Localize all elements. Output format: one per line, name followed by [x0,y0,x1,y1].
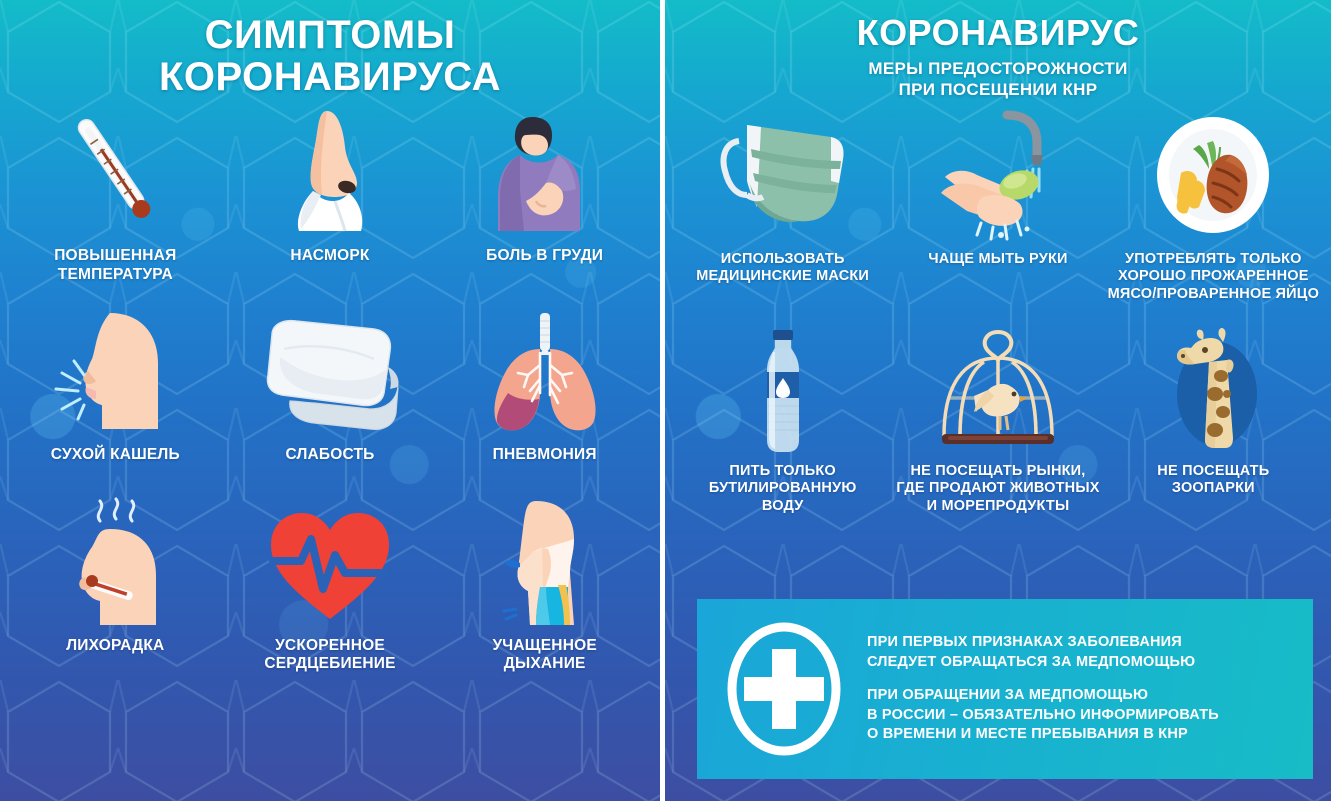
symptom-label-9: УЧАЩЕННОЕ ДЫХАНИЕ [492,637,596,675]
symptoms-panel: СИМПТОМЫ КОРОНАВИРУСА [0,0,660,801]
precautions-row-1: ИСПОЛЬЗОВАТЬ МЕДИЦИНСКИЕ МАСКИ [665,111,1331,304]
notice-text-block: ПРИ ПЕРВЫХ ПРИЗНАКАХ ЗАБОЛЕВАНИЯ СЛЕДУЕТ… [867,633,1219,745]
precaution-label-6: НЕ ПОСЕЩАТЬ ЗООПАРКИ [1157,463,1269,498]
lungs-icon [470,309,620,434]
symptoms-title-line2: КОРОНАВИРУСА [0,56,660,98]
symptom-card-pneumonia: ПНЕВМОНИЯ [437,309,652,465]
symptoms-title-line1: СИМПТОМЫ [0,14,660,56]
medical-help-notice: ПРИ ПЕРВЫХ ПРИЗНАКАХ ЗАБОЛЕВАНИЯ СЛЕДУЕТ… [697,599,1313,779]
symptom-card-chest-pain: БОЛЬ В ГРУДИ [437,105,652,285]
symptom-card-fever: ЛИХОРАДКА [8,495,223,675]
symptom-card-weakness: СЛАБОСТЬ [223,309,438,465]
precaution-label-4: ПИТЬ ТОЛЬКО БУТИЛИРОВАННУЮ ВОДУ [709,463,857,516]
medical-cross-icon [723,619,845,759]
notice-p2-line3: О ВРЕМЕНИ И МЕСТЕ ПРЕБЫВАНИЯ В КНР [867,725,1219,745]
symptom-label-7: ЛИХОРАДКА [66,637,164,656]
symptom-label-2: НАСМОРК [290,247,369,266]
precaution-label-1: ИСПОЛЬЗОВАТЬ МЕДИЦИНСКИЕ МАСКИ [696,251,869,286]
dry-cough-icon [40,309,190,434]
symptom-card-fever-temp: ПОВЫШЕННАЯ ТЕМПЕРАТУРА [8,105,223,285]
symptom-label-3: БОЛЬ В ГРУДИ [486,247,603,266]
notice-p2-line2: В РОССИИ – ОБЯЗАТЕЛЬНО ИНФОРМИРОВАТЬ [867,706,1219,726]
pillow-icon [250,309,410,434]
precaution-card-no-markets: НЕ ПОСЕЩАТЬ РЫНКИ, ГДЕ ПРОДАЮТ ЖИВОТНЫХ … [890,328,1105,516]
symptoms-row-3: ЛИХОРАДКА УСКОРЕННОЕ СЕРДЦЕБИЕНИЕ [0,495,660,675]
heartbeat-icon [255,495,405,625]
symptoms-row-1: ПОВЫШЕННАЯ ТЕМПЕРАТУРА НАСМОРК [0,105,660,285]
precaution-label-2: ЧАЩЕ МЫТЬ РУКИ [928,251,1067,269]
cooked-food-icon [1143,111,1283,241]
precautions-title: КОРОНАВИРУС [665,0,1331,52]
notice-p1-line2: СЛЕДУЕТ ОБРАЩАТЬСЯ ЗА МЕДПОМОЩЬЮ [867,653,1219,673]
symptom-card-breathing: УЧАЩЕННОЕ ДЫХАНИЕ [437,495,652,675]
infographic-poster: СИМПТОМЫ КОРОНАВИРУСА [0,0,1331,801]
notice-p2-line1: ПРИ ОБРАЩЕНИИ ЗА МЕДПОМОЩЬЮ [867,686,1219,706]
precaution-card-wash-hands: ЧАЩЕ МЫТЬ РУКИ [890,111,1105,304]
symptom-label-4: СУХОЙ КАШЕЛЬ [51,446,180,465]
precautions-panel: КОРОНАВИРУС МЕРЫ ПРЕДОСТОРОЖНОСТИ ПРИ ПО… [665,0,1331,801]
giraffe-zoo-icon [1143,328,1283,453]
precautions-subtitle-line2: ПРИ ПОСЕЩЕНИИ КНР [665,79,1331,100]
precaution-label-5: НЕ ПОСЕЩАТЬ РЫНКИ, ГДЕ ПРОДАЮТ ЖИВОТНЫХ … [896,463,1099,516]
notice-p1-line1: ПРИ ПЕРВЫХ ПРИЗНАКАХ ЗАБОЛЕВАНИЯ [867,633,1219,653]
symptom-card-heartbeat: УСКОРЕННОЕ СЕРДЦЕБИЕНИЕ [223,495,438,675]
symptom-label-1: ПОВЫШЕННАЯ ТЕМПЕРАТУРА [54,247,176,285]
water-bottle-icon [713,328,853,453]
bird-cage-icon [918,328,1078,453]
precaution-card-cooked-food: УПОТРЕБЛЯТЬ ТОЛЬКО ХОРОШО ПРОЖАРЕННОЕ МЯ… [1106,111,1321,304]
precautions-row-2: ПИТЬ ТОЛЬКО БУТИЛИРОВАННУЮ ВОДУ [665,328,1331,516]
hand-washing-icon [923,111,1073,241]
symptom-label-5: СЛАБОСТЬ [285,446,374,465]
symptom-label-8: УСКОРЕННОЕ СЕРДЦЕБИЕНИЕ [264,637,395,675]
symptom-card-dry-cough: СУХОЙ КАШЕЛЬ [8,309,223,465]
symptom-card-runny-nose: НАСМОРК [223,105,438,285]
medical-mask-icon [703,111,863,241]
notice-paragraph-1: ПРИ ПЕРВЫХ ПРИЗНАКАХ ЗАБОЛЕВАНИЯ СЛЕДУЕТ… [867,633,1219,672]
symptoms-row-2: СУХОЙ КАШЕЛЬ СЛАБОСТЬ [0,309,660,465]
breathing-icon [470,495,620,625]
runny-nose-icon [265,105,395,235]
symptom-label-6: ПНЕВМОНИЯ [493,446,597,465]
right-title-block: КОРОНАВИРУС МЕРЫ ПРЕДОСТОРОЖНОСТИ ПРИ ПО… [665,0,1331,101]
precaution-card-mask: ИСПОЛЬЗОВАТЬ МЕДИЦИНСКИЕ МАСКИ [675,111,890,304]
left-title-block: СИМПТОМЫ КОРОНАВИРУСА [0,0,660,99]
precaution-label-3: УПОТРЕБЛЯТЬ ТОЛЬКО ХОРОШО ПРОЖАРЕННОЕ МЯ… [1108,251,1320,304]
notice-paragraph-2: ПРИ ОБРАЩЕНИИ ЗА МЕДПОМОЩЬЮ В РОССИИ – О… [867,686,1219,745]
thermometer-icon [40,105,190,235]
chest-pain-icon [480,105,610,235]
precaution-card-bottled-water: ПИТЬ ТОЛЬКО БУТИЛИРОВАННУЮ ВОДУ [675,328,890,516]
precautions-subtitle-line1: МЕРЫ ПРЕДОСТОРОЖНОСТИ [665,58,1331,79]
fever-head-icon [40,495,190,625]
precaution-card-no-zoo: НЕ ПОСЕЩАТЬ ЗООПАРКИ [1106,328,1321,516]
